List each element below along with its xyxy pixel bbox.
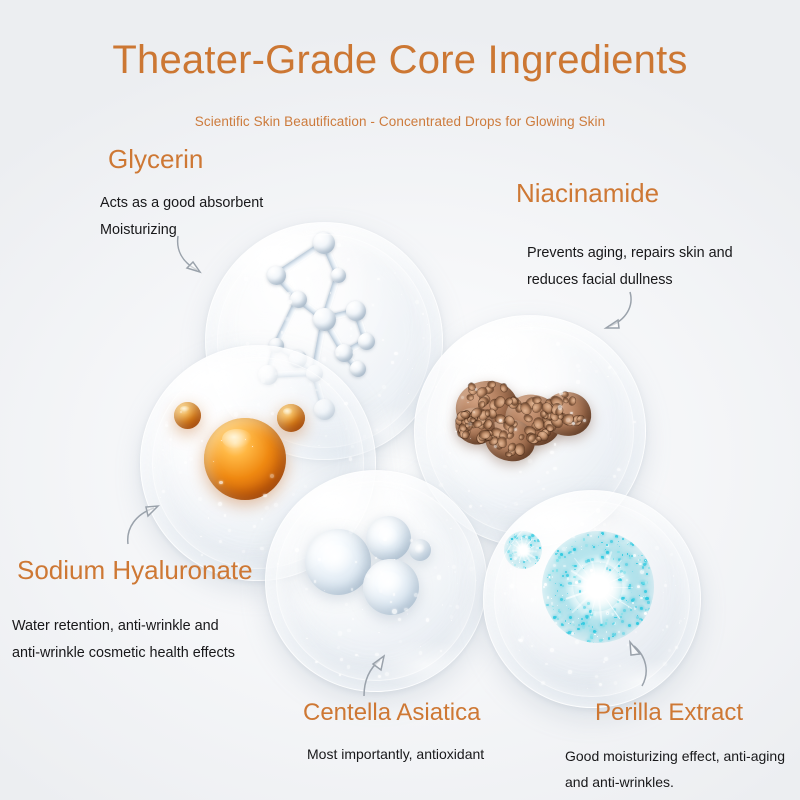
dish-speck [662,629,664,631]
glitter-particle [574,565,577,568]
glitter-particle [539,547,540,548]
glitter-particle [569,551,571,553]
glitter-particle [552,570,554,572]
glitter-particle [578,618,579,619]
glitter-particle [534,540,535,541]
desc-line: Most importantly, antioxidant [307,742,484,768]
glitter-particle [632,598,635,601]
clear-bubble-medium [366,516,411,561]
dish-speck [322,359,326,363]
glitter-particle [639,595,640,596]
amber-droplet-small-left [174,402,201,429]
glitter-particle [597,636,598,637]
glitter-particle [551,598,552,599]
ingredient-name-centella-asiatica: Centella Asiatica [303,699,480,727]
dish-speck [390,601,392,603]
dish-speck [550,451,553,454]
dish-speck [162,449,164,451]
glitter-particle [628,543,629,544]
dish-speck [305,588,308,591]
molecule-atom [267,266,286,285]
dish-speck [655,546,659,550]
dish-speck [228,529,231,532]
dish-speck [504,592,506,594]
glitter-particle [603,558,604,559]
glitter-particle [581,618,583,620]
dish-speck [664,584,668,588]
glitter-particle [570,609,571,610]
molecule-atom [313,308,336,331]
glitter-particle [562,575,564,577]
glitter-particle [573,624,575,626]
dish-speck [347,629,350,632]
dish-speck [455,431,456,432]
dish-speck [218,502,222,506]
dish-speck [675,585,676,586]
glitter-particle [617,601,619,603]
glitter-particle [583,606,586,609]
dish-speck [531,645,532,646]
dish-speck [646,609,649,612]
glitter-particle [512,562,513,563]
petri-dish-perilla-extract [483,490,701,708]
glitter-particle [605,622,607,624]
dish-speck [318,558,320,560]
glitter-particle [510,558,512,560]
glitter-particle [509,554,512,557]
dish-speck [528,635,529,636]
dish-speck [576,380,580,384]
dish-speck [510,345,513,348]
glitter-particle [630,609,632,611]
glitter-particle [555,595,556,596]
curved-arrow-up-right-icon [356,652,400,700]
glitter-particle [596,631,598,633]
dish-speck [306,277,310,281]
curved-arrow-down-right-icon [172,232,228,284]
glitter-particle [586,621,588,623]
dish-speck [606,611,609,614]
glitter-particle [539,558,540,559]
glitter-particle [578,580,581,583]
glitter-particle [549,576,550,577]
glitter-particle [621,613,623,615]
glitter-particle [560,598,563,601]
botanical-scale [485,411,489,417]
glitter-particle [620,567,621,568]
dish-speck [263,494,266,497]
glitter-particle [551,602,553,604]
dish-speck [349,529,353,533]
dish-speck [488,360,490,362]
dish-speck [448,562,450,564]
dish-speck [204,397,206,399]
dish-speck [247,410,250,413]
dish-speck [394,352,397,355]
dish-speck [618,631,620,633]
glitter-particle [553,609,554,610]
glitter-particle [523,561,525,563]
glitter-particle [641,555,642,556]
glitter-particle [557,550,559,552]
dish-speck [546,471,549,474]
dish-speck [510,584,514,588]
glitter-particle [555,622,557,624]
dish-speck [318,445,320,447]
ingredient-name-niacinamide: Niacinamide [516,178,659,209]
glitter-particle [605,549,606,550]
dish-speck [274,503,278,507]
glitter-particle [564,556,566,558]
dish-speck [519,650,520,651]
glitter-particle [601,534,602,535]
glitter-particle [557,618,559,620]
glitter-particle [515,537,517,539]
glitter-particle [510,538,511,539]
glitter-particle [627,601,629,603]
desc-line: Good moisturizing effect, anti-aging [565,744,785,770]
glitter-particle [640,597,643,600]
molecule-atom [313,232,335,254]
glitter-particle [507,550,510,553]
dish-speck [469,567,473,571]
glitter-particle [631,592,632,593]
botanical-scale [514,444,524,456]
dish-speck [189,457,193,461]
glitter-particle [630,542,633,545]
glitter-particle [615,537,616,538]
dish-speck [461,396,464,399]
glitter-particle [613,558,615,560]
dish-speck [399,640,402,643]
glitter-particle [566,605,567,606]
glitter-particle [571,546,572,547]
dish-speck [673,575,675,577]
dish-speck [208,517,210,519]
glitter-particle [644,612,647,615]
dish-speck [283,398,284,399]
glitter-particle [581,546,582,547]
dish-speck [169,438,171,440]
dish-speck [528,459,532,463]
glitter-particle [608,637,611,640]
glitter-particle [601,542,603,544]
dish-speck [398,618,401,621]
dish-speck [184,461,187,464]
curved-arrow-up-left-icon [620,638,664,690]
dish-speck [558,405,562,409]
glitter-particle [568,623,569,624]
dish-speck [666,625,668,627]
dish-speck [585,570,588,573]
ingredient-description-sodium-hyaluronate: Water retention, anti-wrinkle and anti-w… [12,613,235,666]
dish-speck [442,604,444,606]
dish-speck [207,375,210,378]
dish-speck [594,528,596,530]
dish-speck [336,353,339,356]
glitter-particle [593,546,595,548]
glitter-particle [574,569,576,571]
dish-speck [420,646,422,648]
glitter-particle [565,620,567,622]
dish-speck [234,412,238,416]
glitter-particle [636,563,637,564]
dish-speck [507,572,509,574]
dish-speck [559,391,563,395]
dish-speck [408,393,409,394]
dish-speck [173,457,175,459]
dish-speck [570,412,572,414]
dish-speck [586,510,587,511]
glitter-particle [556,559,559,562]
glitter-particle [643,563,646,566]
dish-speck [261,518,262,519]
dish-speck [470,368,473,371]
dish-speck [536,597,537,598]
dish-speck [249,396,252,399]
dish-speck [603,523,606,526]
dish-speck [430,545,431,546]
dish-speck [679,622,681,624]
glitter-particle [606,544,608,546]
dish-speck [401,294,402,295]
glitter-particle [598,545,599,546]
glitter-particle [623,571,626,574]
dish-speck [457,583,459,585]
dish-speck [260,547,264,551]
dish-speck [360,500,363,503]
clear-bubble-large [305,529,371,595]
dish-speck [392,609,396,613]
dish-speck [179,471,182,474]
dish-speck [488,346,490,348]
glitter-particle [598,536,600,538]
dish-speck [426,618,429,621]
ingredient-description-centella-asiatica: Most importantly, antioxidant [307,742,484,768]
dish-speck [287,292,291,296]
dish-speck [345,603,348,606]
dish-speck [339,266,343,270]
glitter-particle [606,551,608,553]
dish-speck [568,523,570,525]
glitter-particle [562,585,564,587]
dish-speck [404,608,408,612]
molecule-atom [331,268,346,283]
glitter-particle [587,602,590,605]
dish-speck [337,646,340,649]
ingredient-name-perilla-extract: Perilla Extract [595,699,743,727]
glitter-particle [629,556,632,559]
glitter-particle [643,596,644,597]
dish-speck [663,592,664,593]
dish-speck [221,440,222,441]
dish-speck [338,631,342,635]
dish-speck [568,670,571,673]
molecule-atom [346,301,366,321]
molecule-atom [358,333,375,350]
dish-speck [594,613,596,615]
dish-speck [224,514,226,516]
glitter-particle [652,600,654,602]
glitter-particle [619,546,620,547]
glitter-particle [557,605,558,606]
curved-arrow-down-left-icon [590,290,642,340]
dish-speck [162,490,165,493]
glitter-particle [615,617,616,618]
dish-speck [407,613,409,615]
dish-speck [596,508,600,512]
dish-speck [281,331,283,333]
glitter-particle [644,581,647,584]
glitter-particle [572,621,574,623]
glitter-particle [574,633,575,634]
dish-speck [347,665,351,669]
dish-speck [200,536,202,538]
ingredient-name-sodium-hyaluronate: Sodium Hyaluronate [17,555,253,586]
glitter-particle [559,611,561,613]
glitter-particle [632,571,633,572]
dish-speck [520,490,523,493]
dish-speck [377,278,379,280]
glitter-particle [647,601,649,603]
desc-line: Water retention, anti-wrinkle and [12,613,235,640]
glitter-particle [587,534,589,536]
glitter-particle [531,534,534,537]
dish-speck [391,361,393,363]
dish-speck [404,505,405,506]
dish-speck [285,317,289,321]
dish-speck [382,385,386,389]
dish-speck [536,519,537,520]
glitter-particle [585,544,587,546]
glitter-particle [638,555,640,557]
glitter-particle [604,550,605,551]
dish-speck [443,465,447,469]
glitter-particle [640,607,643,610]
glitter-particle [602,624,605,627]
dish-speck [287,383,288,384]
glitter-particle [590,535,593,538]
dish-speck [451,620,452,621]
desc-line: and anti-wrinkles. [565,770,785,796]
dish-speck [214,385,218,389]
glitter-ray [598,587,633,588]
dish-speck [430,497,434,501]
dish-speck [450,528,452,530]
glitter-particle [627,553,629,555]
dish-speck [290,387,292,389]
dish-speck [424,523,425,524]
glitter-particle [618,541,619,542]
glitter-particle [556,569,558,571]
dish-speck [198,497,202,501]
glitter-particle [525,567,527,569]
glitter-particle [563,565,565,567]
dish-speck [434,566,437,569]
dish-glass [483,490,701,708]
dish-speck [340,658,342,660]
dish-speck [608,366,611,369]
dish-speck [257,330,259,332]
glitter-particle [634,607,637,610]
dish-speck [468,490,470,492]
dish-speck [562,547,566,551]
glitter-particle [559,583,560,584]
dish-speck [201,440,203,442]
glitter-particle [509,541,510,542]
dish-speck [219,540,222,543]
glitter-particle [617,544,618,545]
dish-speck [328,500,330,502]
glitter-particle [593,630,596,633]
dish-speck [226,382,228,384]
dish-speck [228,391,229,392]
dish-speck [160,497,161,498]
dish-speck [253,525,256,528]
dish-speck [497,610,499,612]
molecule-atom [290,291,307,308]
page-subtitle: Scientific Skin Beautification - Concent… [0,114,800,129]
glitter-particle [535,559,536,560]
glitter-particle [518,567,520,569]
glitter-particle [547,577,548,578]
dish-speck [315,661,317,663]
amber-droplet-large [204,418,286,500]
dish-speck [378,632,379,633]
dish-speck [668,649,671,652]
glitter-particle [625,563,628,566]
glitter-particle [578,624,580,626]
glitter-particle [623,609,626,612]
dish-speck [414,593,418,597]
dish-speck [456,605,459,608]
glitter-particle [555,616,557,618]
glitter-particle [561,624,564,627]
dish-speck [553,467,557,471]
glitter-particle [567,593,568,594]
glitter-particle [641,619,643,621]
clear-bubble-lower [363,559,419,615]
dish-speck [583,419,586,422]
glitter-particle [631,555,633,557]
dish-speck [440,650,442,652]
dish-speck [315,389,317,391]
glitter-particle [603,638,604,639]
dish-speck [587,688,588,689]
dish-speck [346,505,349,508]
dish-speck [291,256,294,259]
glitter-particle [544,583,547,586]
glitter-particle [555,553,557,555]
glitter-particle [549,579,551,581]
glitter-particle [567,577,570,580]
dish-speck [394,272,396,274]
dish-speck [519,639,523,643]
dish-speck [277,563,279,565]
dish-speck [242,550,245,553]
glitter-particle [569,616,572,619]
dish-speck [295,548,299,552]
amber-droplet-small-right [277,404,305,432]
glitter-particle [575,541,576,542]
dish-speck [244,277,248,281]
glitter-particle [571,632,574,635]
dish-speck [585,526,586,527]
dish-speck [545,663,547,665]
dish-speck [270,290,272,292]
glitter-particle [514,564,516,566]
dish-speck [519,471,522,474]
